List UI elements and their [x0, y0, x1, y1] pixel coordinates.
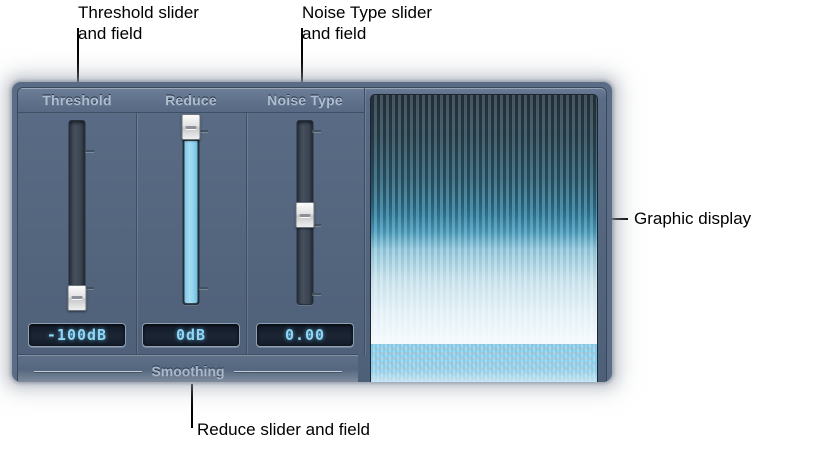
smoothing-rule-right — [234, 371, 342, 372]
threshold-callout-label: Threshold slider and field — [78, 2, 199, 44]
noise-type-tick-top — [312, 130, 321, 132]
reduce-callout-label: Reduce slider and field — [197, 419, 370, 440]
reduce-slider-thumb[interactable] — [182, 114, 201, 140]
noise-type-value-field[interactable]: 0.00 — [256, 323, 354, 347]
reduce-slider-fill — [185, 141, 198, 303]
smoothing-section: Smoothing — [18, 354, 358, 382]
graphic-callout-label: Graphic display — [634, 208, 751, 229]
reduce-value: 0dB — [176, 326, 206, 344]
threshold-tick-top — [85, 150, 94, 152]
reduce-column: Reduce 0dB — [136, 88, 247, 355]
reduce-header: Reduce — [136, 88, 246, 113]
threshold-callout-leader — [77, 28, 79, 88]
threshold-slider[interactable] — [18, 112, 136, 313]
noise-type-slider-thumb[interactable] — [296, 202, 315, 228]
reduce-callout-leader — [191, 384, 193, 428]
threshold-column: Threshold -100dB — [18, 88, 137, 355]
graphic-display-noise-floor — [371, 344, 597, 382]
smoothing-label: Smoothing — [151, 363, 224, 379]
reduce-tick-bottom — [199, 287, 208, 289]
reduce-slider[interactable] — [136, 112, 246, 313]
reduce-value-field[interactable]: 0dB — [142, 323, 240, 347]
noise-type-value: 0.00 — [285, 326, 325, 344]
smoothing-rule-left — [34, 371, 142, 372]
graphic-display[interactable] — [370, 94, 598, 382]
denoiser-plugin-window: Threshold -100dB Reduce — [12, 82, 612, 382]
plugin-inner-panel: Threshold -100dB Reduce — [17, 87, 607, 382]
threshold-slider-thumb[interactable] — [68, 285, 87, 311]
noise-type-column: Noise Type 0.00 — [246, 88, 365, 355]
threshold-value: -100dB — [47, 326, 107, 344]
threshold-value-field[interactable]: -100dB — [28, 323, 126, 347]
reduce-slider-track[interactable] — [183, 120, 200, 305]
threshold-slider-track[interactable] — [69, 120, 86, 305]
noise-type-callout-leader — [301, 28, 303, 88]
graphic-display-stripes — [371, 95, 597, 382]
noise-type-header: Noise Type — [246, 88, 364, 113]
noise-type-tick-bottom — [312, 293, 321, 295]
noise-type-callout-label: Noise Type slider and field — [302, 2, 432, 44]
threshold-header: Threshold — [18, 88, 136, 113]
noise-type-slider[interactable] — [246, 112, 364, 313]
